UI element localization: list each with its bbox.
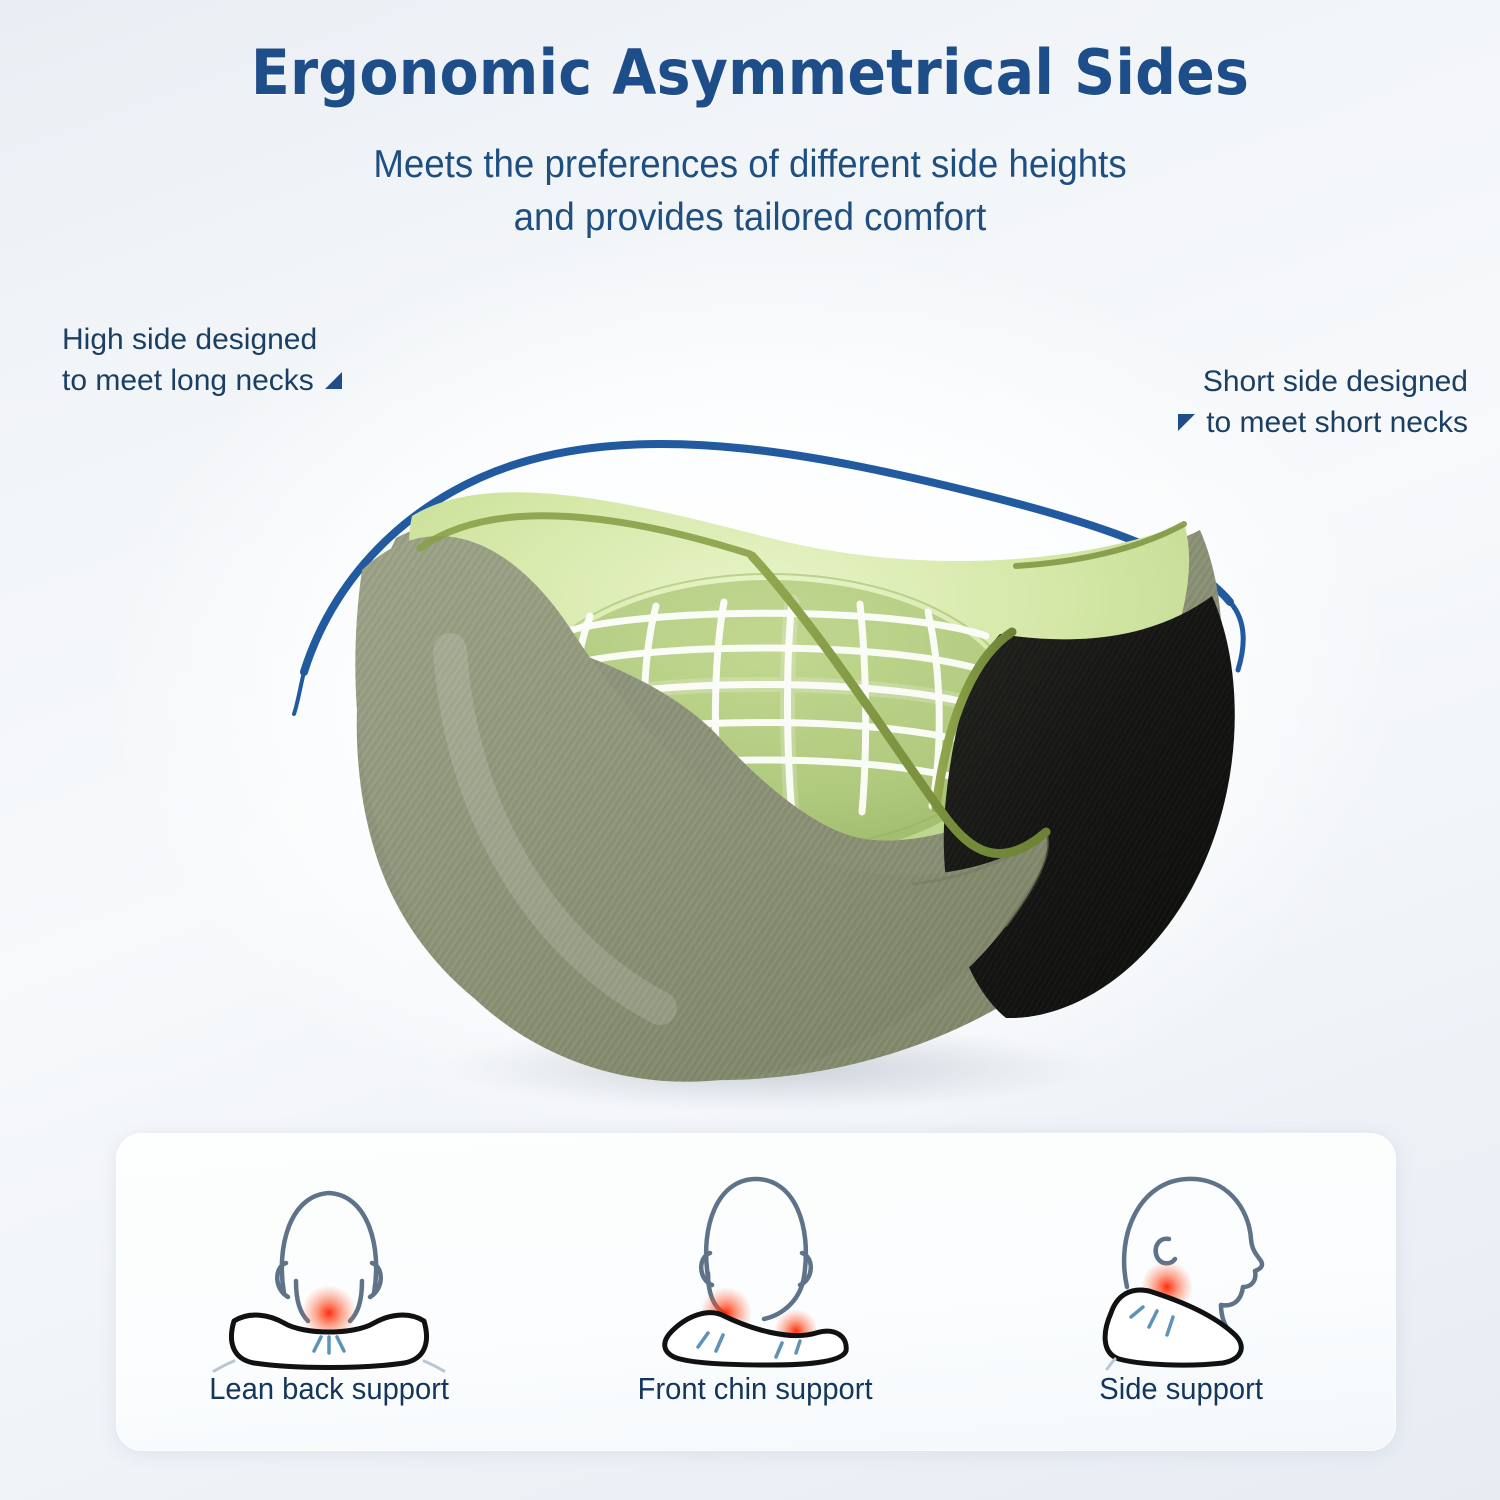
- support-caption: Lean back support: [129, 1371, 530, 1407]
- page-subtitle: Meets the preferences of different side …: [45, 138, 1455, 245]
- support-item-side: Side support: [968, 1133, 1394, 1451]
- ear-profile: [1155, 1239, 1174, 1264]
- pillow-outline: [665, 1313, 846, 1365]
- subtitle-line-1: Meets the preferences of different side …: [45, 138, 1455, 191]
- product-image-neck-pillow: [300, 420, 1260, 1100]
- page-title: Ergonomic Asymmetrical Sides: [60, 36, 1440, 109]
- lean-back-support-icon: [116, 1155, 542, 1367]
- callout-high-side: High side designed to meet long necks: [62, 320, 342, 401]
- subtitle-line-2: and provides tailored comfort: [45, 191, 1455, 244]
- head-outline: [282, 1193, 376, 1293]
- callout-left-line-2: to meet long necks: [62, 361, 314, 402]
- support-caption: Front chin support: [555, 1371, 956, 1407]
- front-chin-support-icon: [542, 1155, 968, 1367]
- triangle-pointer-icon: [325, 372, 342, 389]
- contour-accent-line-tail-right: [1230, 602, 1243, 670]
- pillow-outline: [1105, 1290, 1241, 1365]
- callout-right-line-1: Short side designed: [1203, 362, 1468, 403]
- pillow-strap: [1107, 1359, 1115, 1369]
- callout-left-line-1: High side designed: [62, 320, 317, 361]
- infographic-page: Ergonomic Asymmetrical Sides Meets the p…: [0, 0, 1500, 1500]
- support-item-front-chin: Front chin support: [542, 1133, 968, 1451]
- support-modes-card: Lean back support: [116, 1133, 1396, 1451]
- support-caption: Side support: [981, 1371, 1382, 1407]
- support-item-lean-back: Lean back support: [116, 1133, 542, 1451]
- contour-accent-line-tail-left: [294, 672, 304, 714]
- side-support-icon: [968, 1155, 1394, 1367]
